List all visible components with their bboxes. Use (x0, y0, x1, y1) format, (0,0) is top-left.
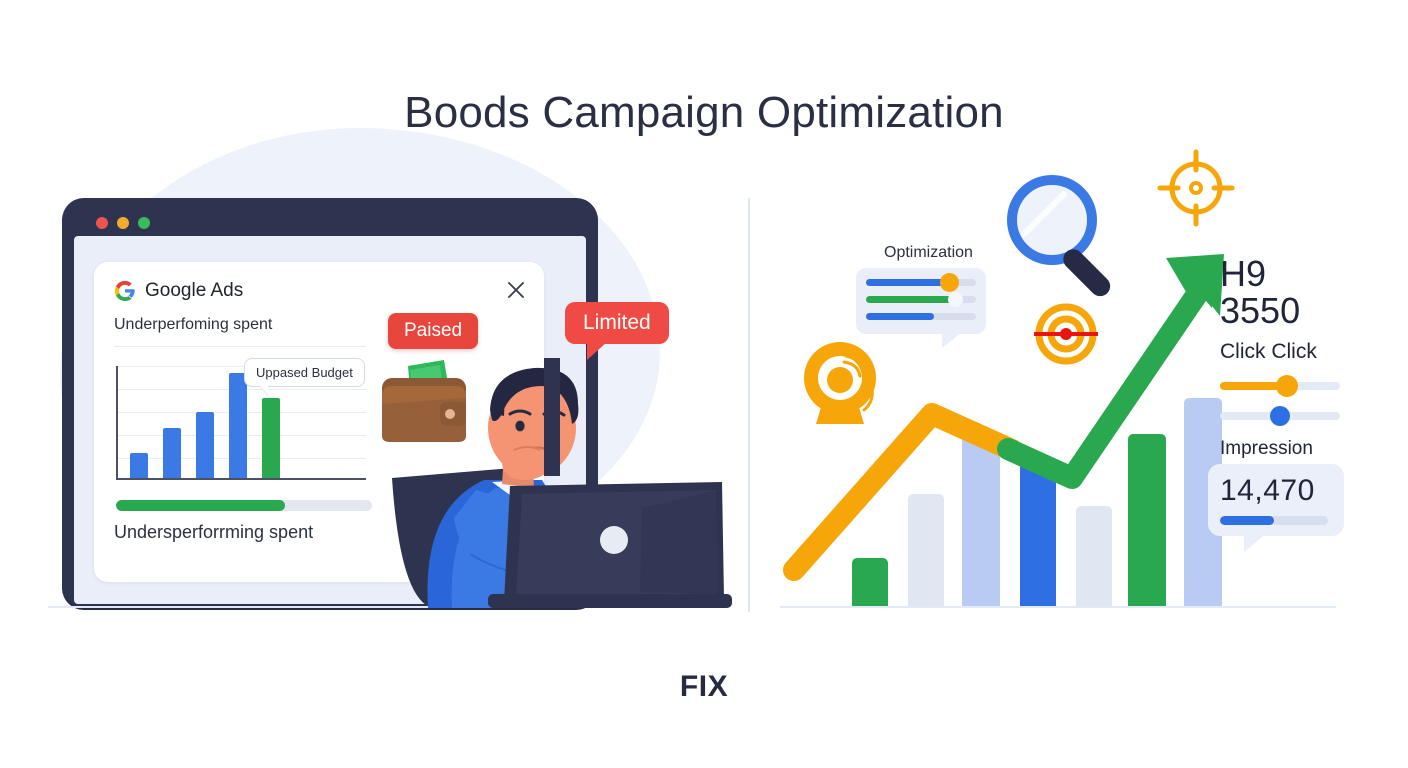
optimization-card (856, 268, 986, 334)
optimization-slider[interactable] (866, 296, 976, 303)
impression-card: 14,470 (1208, 464, 1344, 536)
metric-heading: H9 (1220, 255, 1266, 293)
chart-y-axis (116, 366, 118, 480)
spend-progress-fill (116, 500, 285, 511)
panel-divider (748, 198, 750, 612)
slider-knob[interactable] (1270, 406, 1290, 426)
google-g-icon (114, 280, 136, 302)
bullseye-target-icon (1032, 300, 1100, 368)
mini-bar (130, 453, 148, 478)
status-bubble-limited[interactable]: Limited (565, 302, 669, 344)
impression-progress-fill (1220, 516, 1274, 525)
slider-knob[interactable] (948, 292, 963, 307)
slider-knob[interactable] (940, 273, 959, 292)
illustration-canvas: Boods Campaign Optimization (0, 0, 1408, 768)
fix-label: FIX (0, 670, 1408, 704)
crosshair-target-icon (1158, 150, 1234, 226)
mini-bar (229, 373, 247, 478)
status-badge-paused[interactable]: Paised (388, 313, 478, 349)
click-slider-orange[interactable] (1220, 382, 1340, 390)
person-at-laptop-illustration (392, 358, 732, 608)
orange-trend-line (794, 414, 1012, 570)
mini-bar (163, 428, 181, 478)
click-slider-blue[interactable] (1220, 412, 1340, 420)
optimization-slider[interactable] (866, 313, 976, 320)
chart-x-axis (116, 478, 366, 480)
close-icon[interactable] (506, 280, 526, 300)
optimization-slider[interactable] (866, 279, 976, 286)
brand-label: Google Ads (145, 280, 243, 302)
right-illustration-panel: Optimization H9 3550 Click Click (780, 150, 1380, 620)
optimization-label: Optimization (884, 244, 973, 262)
megaphone-icon (802, 342, 882, 424)
window-close-dot[interactable] (96, 217, 108, 229)
spend-progress-bar (116, 500, 372, 511)
metric-value: 3550 (1220, 292, 1300, 330)
window-minimize-dot[interactable] (117, 217, 129, 229)
page-title: Boods Campaign Optimization (0, 88, 1408, 138)
impression-value: 14,470 (1220, 474, 1332, 508)
card-header: Google Ads (114, 280, 524, 302)
impression-progress-bar (1220, 516, 1328, 525)
budget-tooltip: Uppased Budget (244, 358, 365, 387)
impression-label: Impression (1220, 438, 1313, 460)
mini-bar (262, 398, 280, 478)
slider-knob[interactable] (1276, 375, 1298, 397)
progress-label: Undersperforrming spent (114, 522, 313, 543)
mini-bar (196, 412, 214, 478)
card-divider (114, 346, 366, 347)
window-maximize-dot[interactable] (138, 217, 150, 229)
click-label: Click Click (1220, 340, 1317, 364)
magnifying-glass-icon (1002, 172, 1132, 302)
window-titlebar (74, 210, 586, 236)
